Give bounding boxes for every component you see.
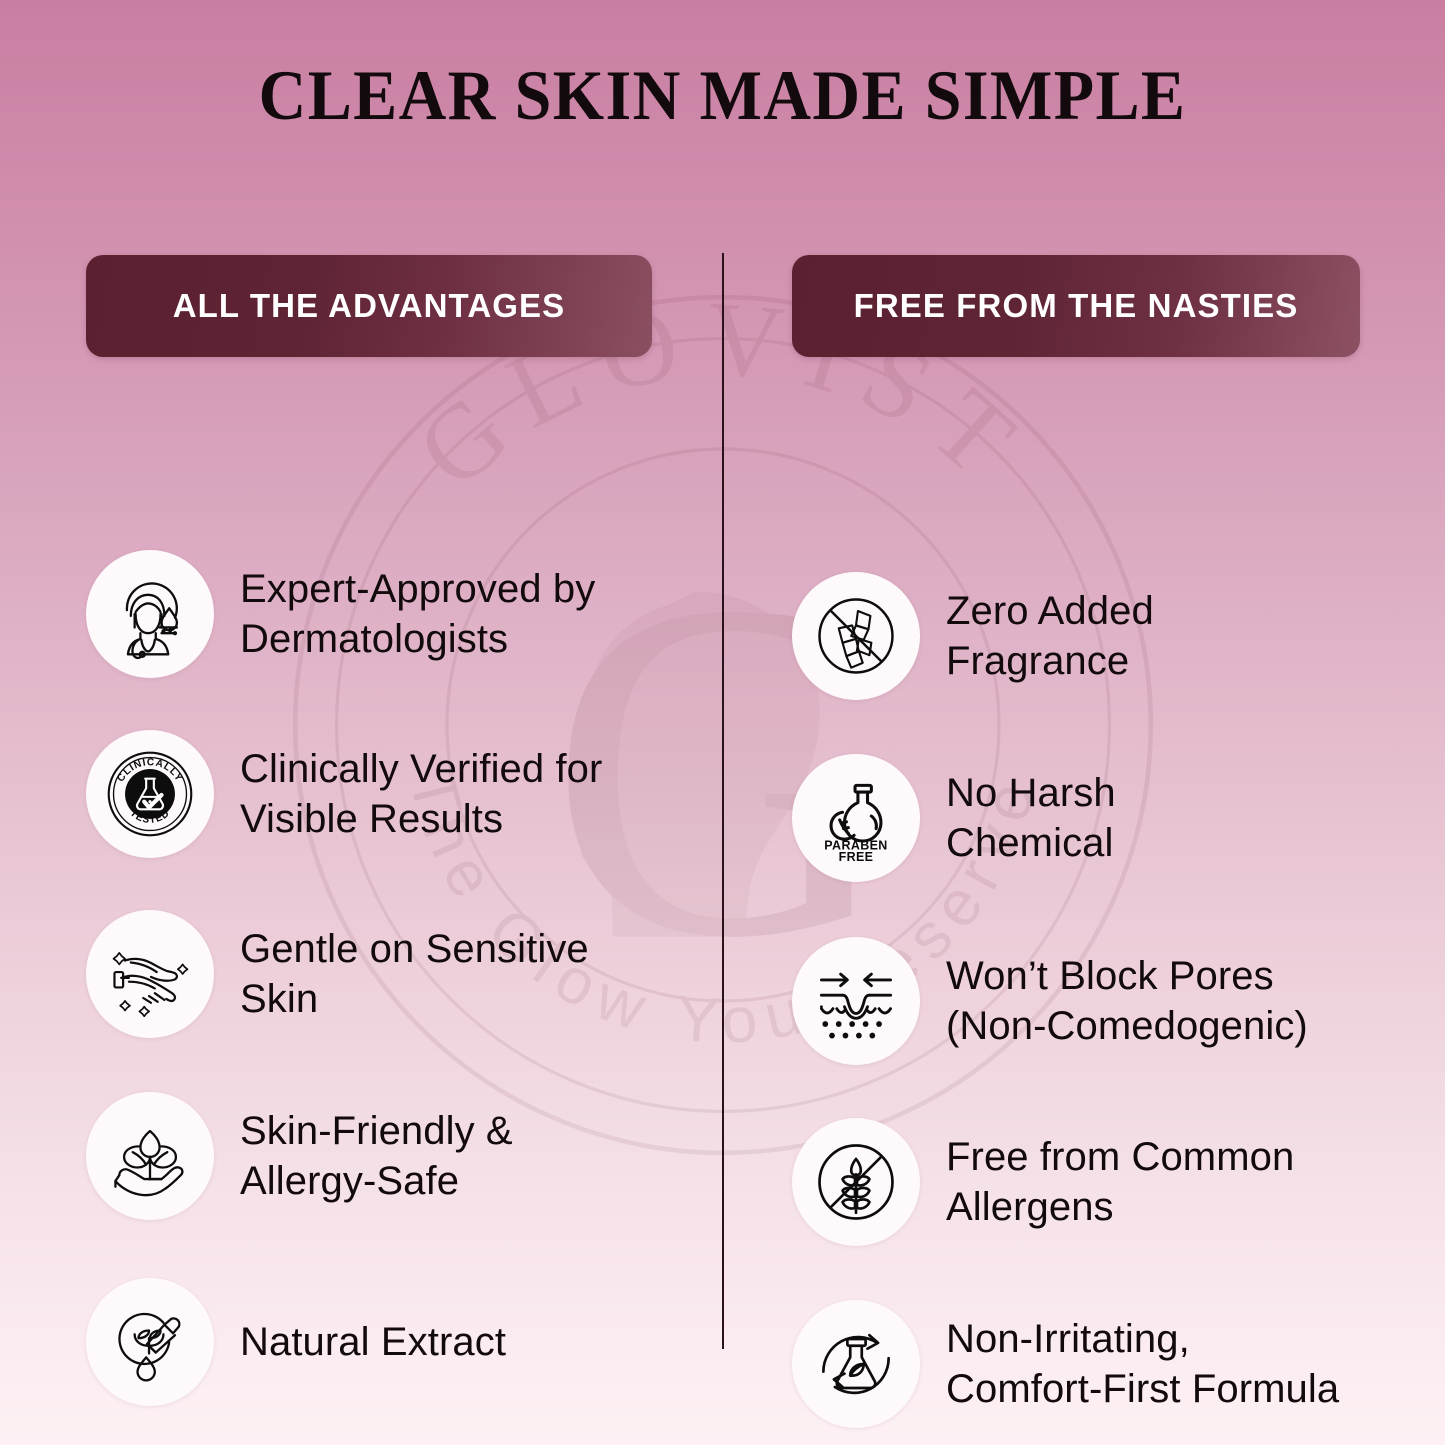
- label-line-2: Skin: [240, 974, 589, 1024]
- list-item[interactable]: PARABEN FREE No Harsh Chemical: [792, 754, 1116, 882]
- list-item[interactable]: Skin-Friendly & Allergy-Safe: [86, 1092, 513, 1220]
- list-item[interactable]: CLINICALLY TESTED: [86, 730, 602, 858]
- advantages-list: Expert-Approved by Dermatologists: [86, 357, 652, 1445]
- column-free-from: FREE FROM THE NASTIES: [792, 255, 1360, 1445]
- label-line-2: Allergens: [946, 1182, 1294, 1232]
- free-from-list: Zero Added Fragrance: [792, 357, 1360, 1445]
- list-item-label: Clinically Verified for Visible Results: [240, 744, 602, 844]
- label-line-1: Won’t Block Pores: [946, 951, 1308, 1001]
- list-item[interactable]: Gentle on Sensitive Skin: [86, 910, 589, 1038]
- list-item[interactable]: Won’t Block Pores (Non-Comedogenic): [792, 937, 1308, 1065]
- paraben-free-icon: PARABEN FREE: [792, 754, 920, 882]
- column-divider: [722, 253, 724, 1349]
- no-wheat-allergen-icon: [792, 1118, 920, 1246]
- dropper-leaf-icon: [86, 1278, 214, 1406]
- list-item-label: Expert-Approved by Dermatologists: [240, 564, 595, 664]
- list-item[interactable]: Natural Extract: [86, 1278, 506, 1406]
- list-item-label: Zero Added Fragrance: [946, 586, 1154, 686]
- list-item-label: Won’t Block Pores (Non-Comedogenic): [946, 951, 1308, 1051]
- list-item[interactable]: Zero Added Fragrance: [792, 572, 1154, 700]
- no-fragrance-crystals-icon: [792, 572, 920, 700]
- page-title: CLEAR SKIN MADE SIMPLE: [51, 56, 1395, 137]
- label-line-1: Non-Irritating,: [946, 1314, 1339, 1364]
- heading-pill-free-from: FREE FROM THE NASTIES: [792, 255, 1360, 357]
- non-comedogenic-pores-icon: [792, 937, 920, 1065]
- list-item-label: Skin-Friendly & Allergy-Safe: [240, 1106, 513, 1206]
- column-advantages: ALL THE ADVANTAGES: [86, 255, 652, 1445]
- label-line-1: Free from Common: [946, 1132, 1294, 1182]
- heading-label: ALL THE ADVANTAGES: [173, 287, 566, 325]
- list-item-label: Non-Irritating, Comfort-First Formula: [946, 1314, 1339, 1414]
- label-line-1: No Harsh: [946, 768, 1116, 818]
- gentle-hands-icon: [86, 910, 214, 1038]
- infographic-canvas: GLOVIST The Glow You Deserve G CLEAR SKI…: [0, 0, 1445, 1445]
- list-item[interactable]: Expert-Approved by Dermatologists: [86, 550, 595, 678]
- paraben-free-text-line2: FREE: [839, 850, 874, 864]
- label-line-2: Dermatologists: [240, 614, 595, 664]
- label-line-1: Skin-Friendly &: [240, 1106, 513, 1156]
- label-line-2: Comfort-First Formula: [946, 1364, 1339, 1414]
- label-line-2: Chemical: [946, 818, 1116, 868]
- label-line-2: Fragrance: [946, 636, 1154, 686]
- list-item-label: No Harsh Chemical: [946, 768, 1116, 868]
- heading-label: FREE FROM THE NASTIES: [854, 287, 1299, 325]
- clinically-tested-badge-icon: CLINICALLY TESTED: [86, 730, 214, 858]
- list-item-label: Gentle on Sensitive Skin: [240, 924, 589, 1024]
- label-line-2: (Non-Comedogenic): [946, 1001, 1308, 1051]
- label-line-2: Visible Results: [240, 794, 602, 844]
- list-item-label: Natural Extract: [240, 1317, 506, 1367]
- label-line-1: Expert-Approved by: [240, 564, 595, 614]
- list-item-label: Free from Common Allergens: [946, 1132, 1294, 1232]
- dermatologist-icon: [86, 550, 214, 678]
- label-line-1: Gentle on Sensitive: [240, 924, 589, 974]
- flask-leaf-cycle-icon: [792, 1300, 920, 1428]
- label-line-1: Natural Extract: [240, 1317, 506, 1367]
- label-line-1: Clinically Verified for: [240, 744, 602, 794]
- hand-plant-icon: [86, 1092, 214, 1220]
- label-line-2: Allergy-Safe: [240, 1156, 513, 1206]
- label-line-1: Zero Added: [946, 586, 1154, 636]
- list-item[interactable]: Non-Irritating, Comfort-First Formula: [792, 1300, 1339, 1428]
- list-item[interactable]: Free from Common Allergens: [792, 1118, 1294, 1246]
- heading-pill-advantages: ALL THE ADVANTAGES: [86, 255, 652, 357]
